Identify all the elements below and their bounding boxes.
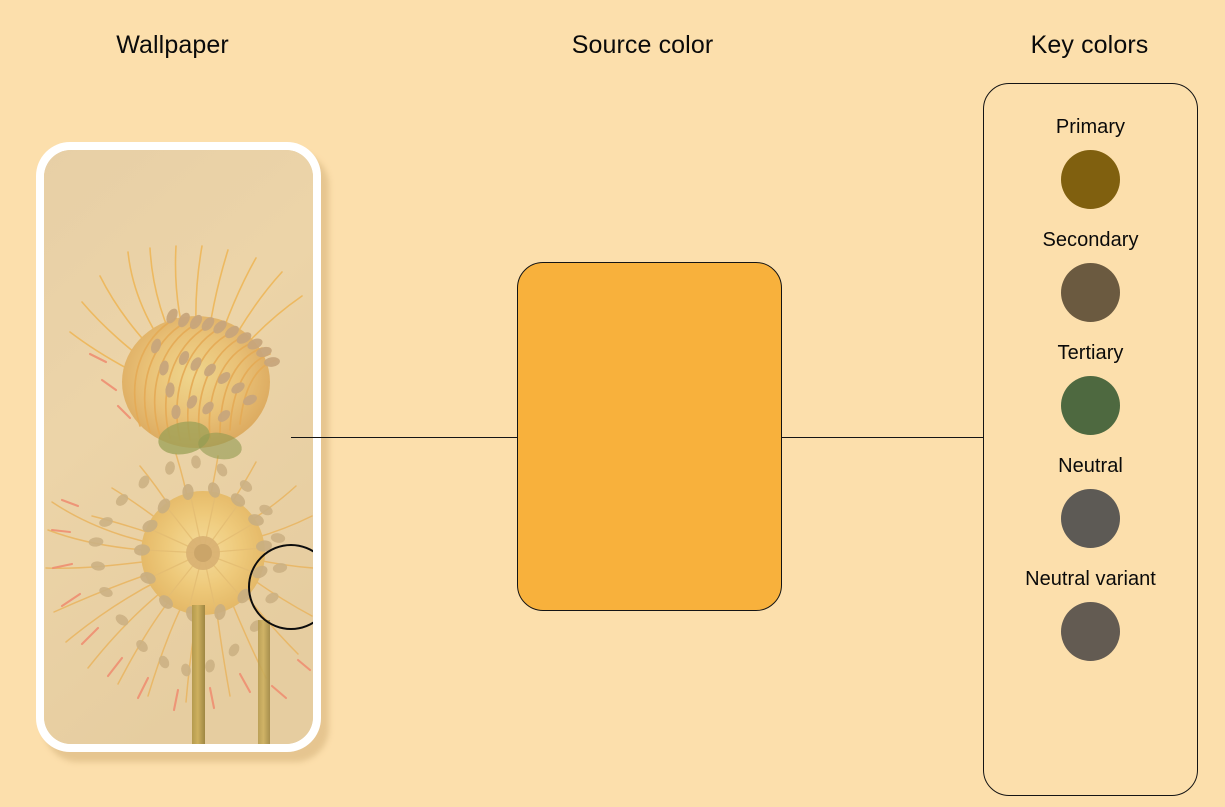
key-color-item: Neutral variant xyxy=(1025,568,1156,661)
key-color-swatch xyxy=(1061,376,1120,435)
key-color-swatch xyxy=(1061,150,1120,209)
key-color-item: Secondary xyxy=(1042,229,1138,322)
key-color-label: Secondary xyxy=(1042,229,1138,252)
phone-frame xyxy=(36,142,321,752)
page-title-source-color: Source color xyxy=(470,31,815,60)
key-color-swatch xyxy=(1061,602,1120,661)
connector-line-source-to-key-colors xyxy=(781,437,984,438)
wallpaper-image xyxy=(44,150,313,744)
key-color-label: Tertiary xyxy=(1058,342,1124,365)
key-color-swatch xyxy=(1061,489,1120,548)
key-color-label: Neutral xyxy=(1058,455,1123,478)
key-color-item: Tertiary xyxy=(1058,342,1124,435)
key-color-label: Primary xyxy=(1056,116,1125,139)
page-title-wallpaper: Wallpaper xyxy=(0,31,345,60)
key-colors-panel: PrimarySecondaryTertiaryNeutralNeutral v… xyxy=(983,83,1198,796)
key-colors-list: PrimarySecondaryTertiaryNeutralNeutral v… xyxy=(984,84,1197,795)
key-color-item: Primary xyxy=(1056,116,1125,209)
source-color-swatch xyxy=(517,262,782,611)
page-title-key-colors: Key colors xyxy=(967,31,1212,60)
key-color-swatch xyxy=(1061,263,1120,322)
wallpaper-panel xyxy=(36,142,321,752)
key-color-label: Neutral variant xyxy=(1025,568,1156,591)
phone-screen xyxy=(44,150,313,744)
connector-line-wallpaper-to-source xyxy=(291,437,517,438)
key-color-item: Neutral xyxy=(1058,455,1123,548)
